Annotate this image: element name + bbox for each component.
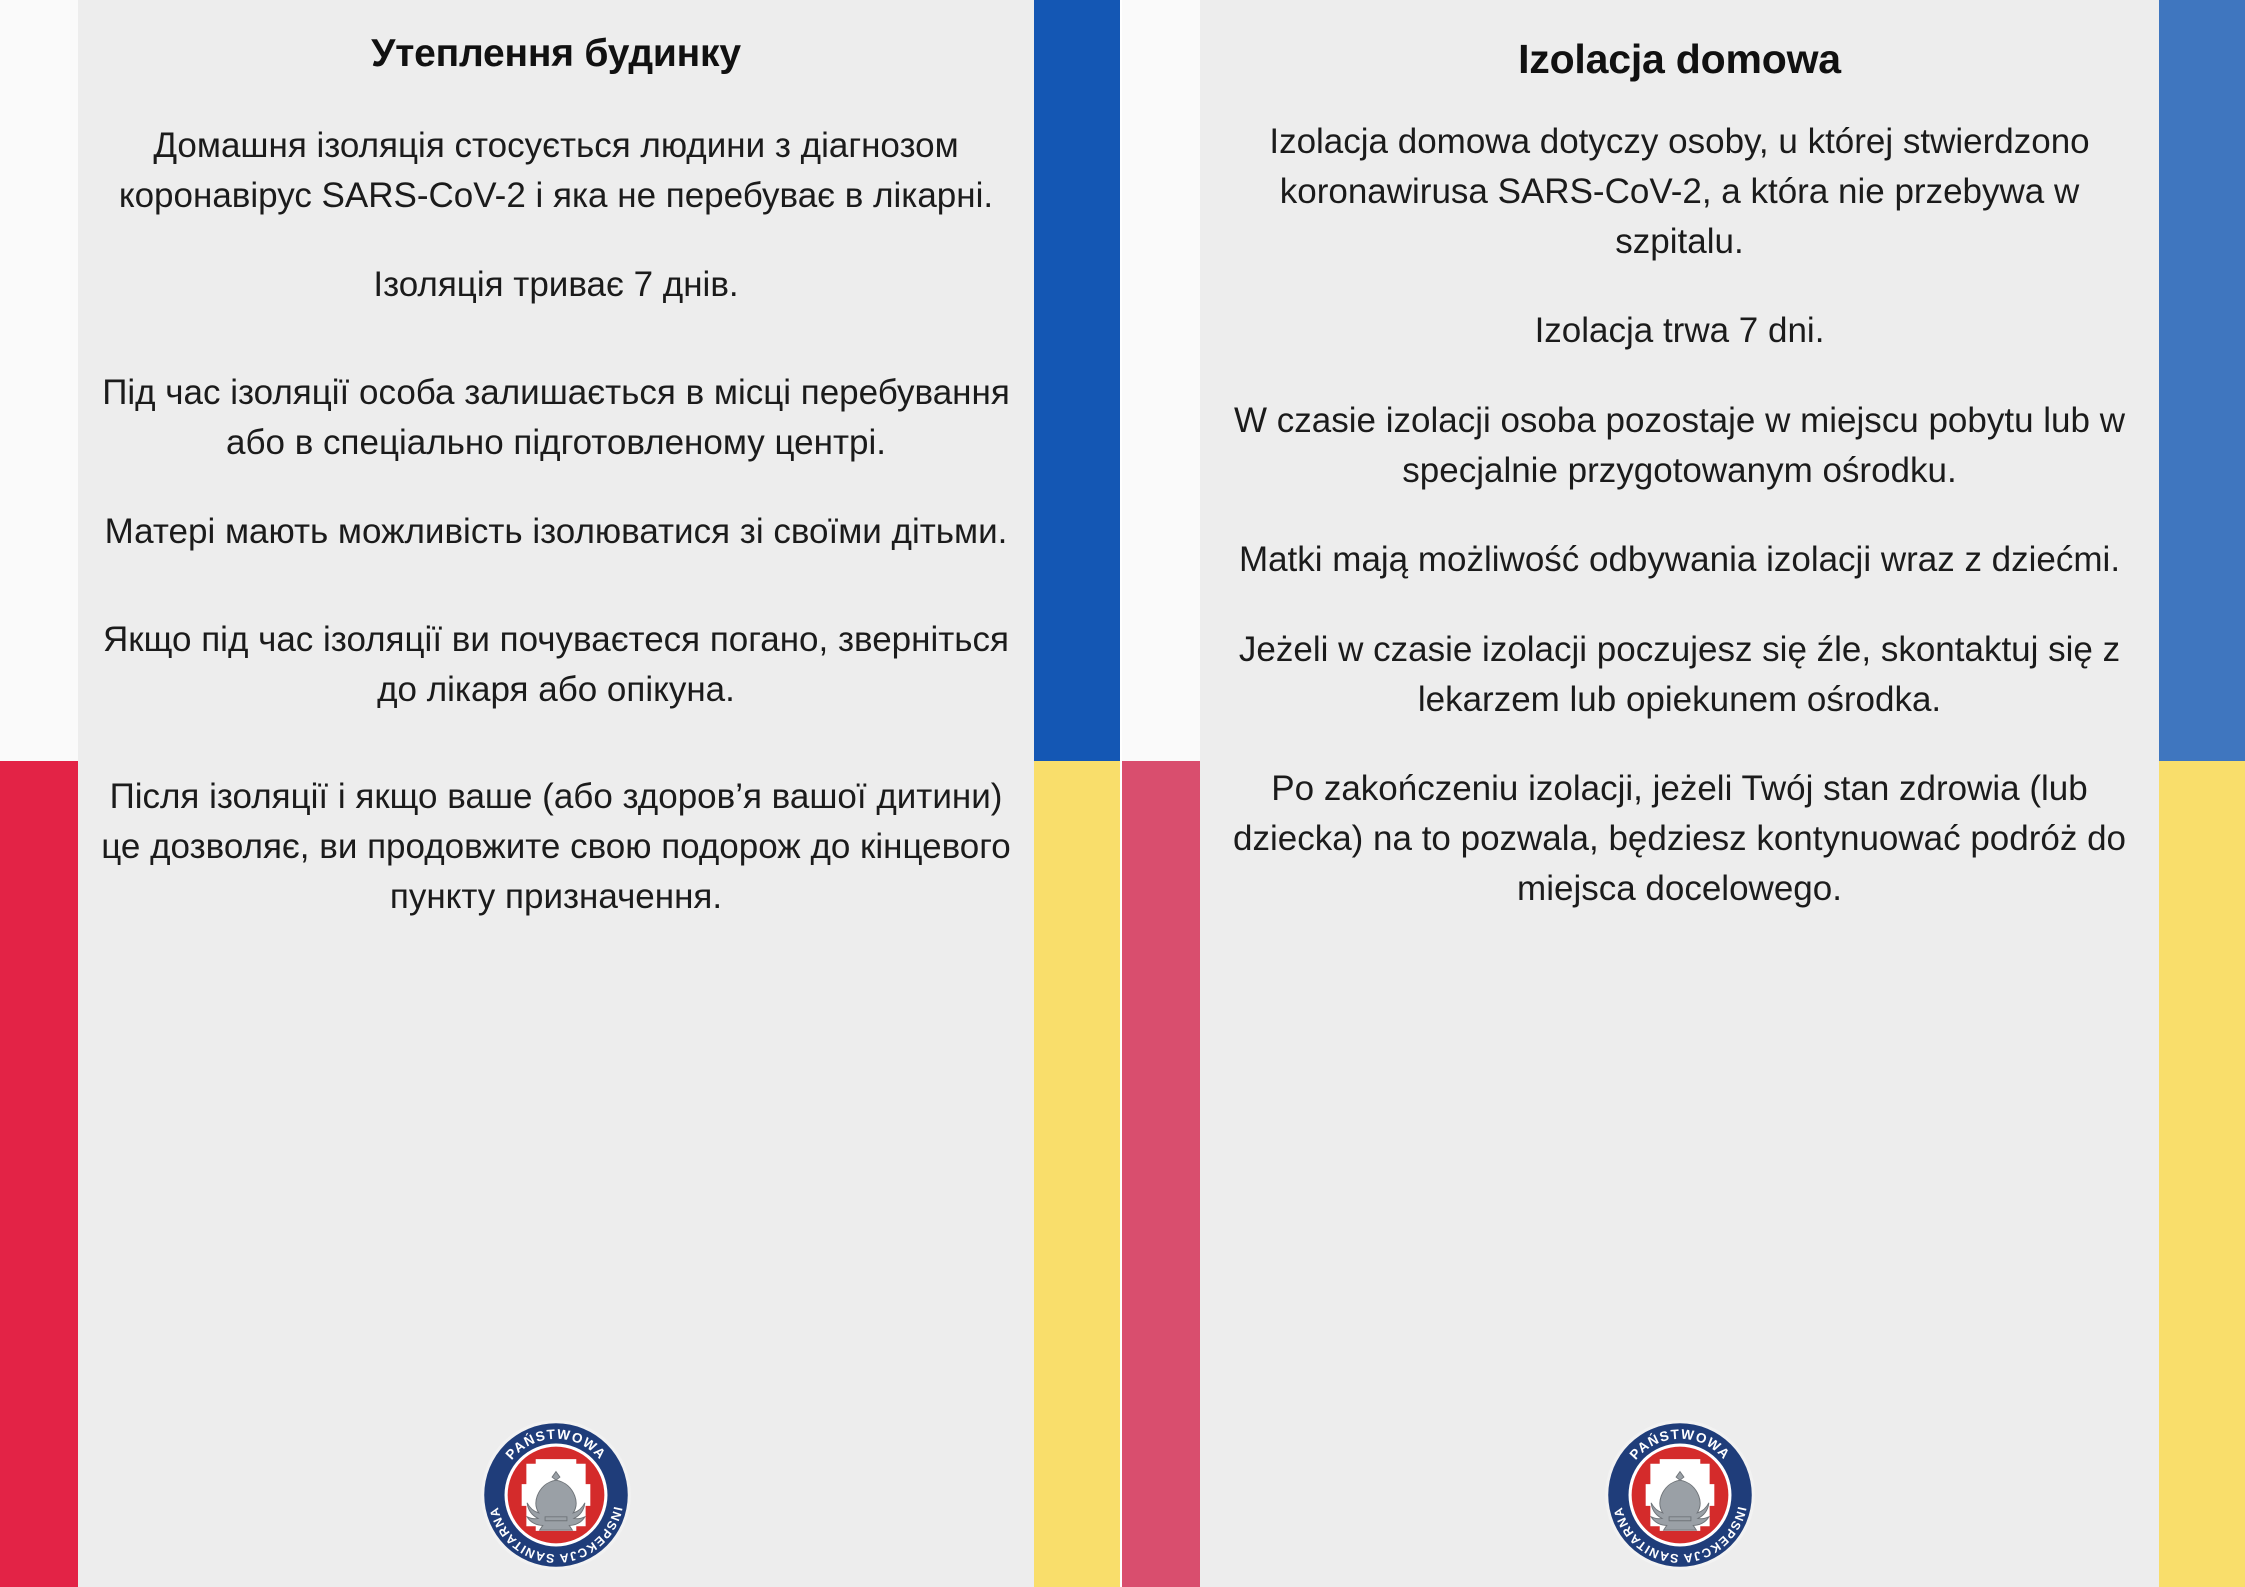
flag-segment-blue xyxy=(1034,0,1120,761)
paragraph-1: Izolacja domowa dotyczy osoby, u której … xyxy=(1226,117,2133,266)
flag-segment-white xyxy=(0,0,78,761)
ukrainian-panel-content: Утеплення будинку Домашня ізоляція стосу… xyxy=(78,0,1034,1587)
sanitary-inspection-emblem-icon: PAŃSTWOWA INSPEKCJA SANITARNA xyxy=(1602,1417,1758,1573)
flag-segment-yellow xyxy=(2159,761,2245,1587)
ukraine-flag-bar-right-panel xyxy=(2159,0,2245,1587)
flag-segment-blue xyxy=(2159,0,2245,761)
ukrainian-panel: Утеплення будинку Домашня ізоляція стосу… xyxy=(0,0,1120,1587)
paragraph-4: Matki mają możliwość odbywania izolacji … xyxy=(1226,535,2133,585)
sanitary-inspection-emblem-icon: PAŃSTWOWA INSPEKCJA SANITARNA xyxy=(478,1417,634,1573)
poland-flag-bar-right-panel xyxy=(1122,0,1200,1587)
page-title-polish: Izolacja domowa xyxy=(1518,36,1841,83)
paragraph-2: Ізоляція триває 7 днів. xyxy=(100,260,1012,310)
paragraph-4: Матері мають можливість ізолюватися зі с… xyxy=(100,507,1012,557)
paragraph-3: Під час ізоляції особа залишається в міс… xyxy=(100,368,1012,467)
flag-segment-white xyxy=(1122,0,1200,761)
paragraph-2: Izolacja trwa 7 dni. xyxy=(1226,306,2133,356)
flag-segment-red xyxy=(1122,761,1200,1587)
page-title-ukrainian: Утеплення будинку xyxy=(371,32,741,77)
polish-panel: Izolacja domowa Izolacja domowa dotyczy … xyxy=(1122,0,2245,1587)
ukrainian-body: Домашня ізоляція стосується людини з діа… xyxy=(100,121,1012,962)
paragraph-3: W czasie izolacji osoba pozostaje w miej… xyxy=(1226,396,2133,495)
paragraph-6: Після ізоляції і якщо ваше (або здоров’я… xyxy=(100,772,1012,921)
ukraine-flag-bar-left-panel xyxy=(1034,0,1120,1587)
panstwowa-inspekcja-sanitarna-logo-right: PAŃSTWOWA INSPEKCJA SANITARNA xyxy=(1602,1417,1758,1573)
flag-segment-red xyxy=(0,761,78,1587)
poland-flag-bar-left xyxy=(0,0,78,1587)
paragraph-5: Якщо під час ізоляції ви почуваєтеся пог… xyxy=(100,615,1012,714)
panstwowa-inspekcja-sanitarna-logo-left: PAŃSTWOWA INSPEKCJA SANITARNA xyxy=(478,1417,634,1573)
poster-root: Утеплення будинку Домашня ізоляція стосу… xyxy=(0,0,2245,1587)
flag-segment-yellow xyxy=(1034,761,1120,1587)
polish-body: Izolacja domowa dotyczy osoby, u której … xyxy=(1226,117,2133,953)
paragraph-1: Домашня ізоляція стосується людини з діа… xyxy=(100,121,1012,220)
polish-panel-content: Izolacja domowa Izolacja domowa dotyczy … xyxy=(1200,0,2159,1587)
paragraph-6: Po zakończeniu izolacji, jeżeli Twój sta… xyxy=(1226,764,2133,913)
paragraph-5: Jeżeli w czasie izolacji poczujesz się ź… xyxy=(1226,625,2133,724)
